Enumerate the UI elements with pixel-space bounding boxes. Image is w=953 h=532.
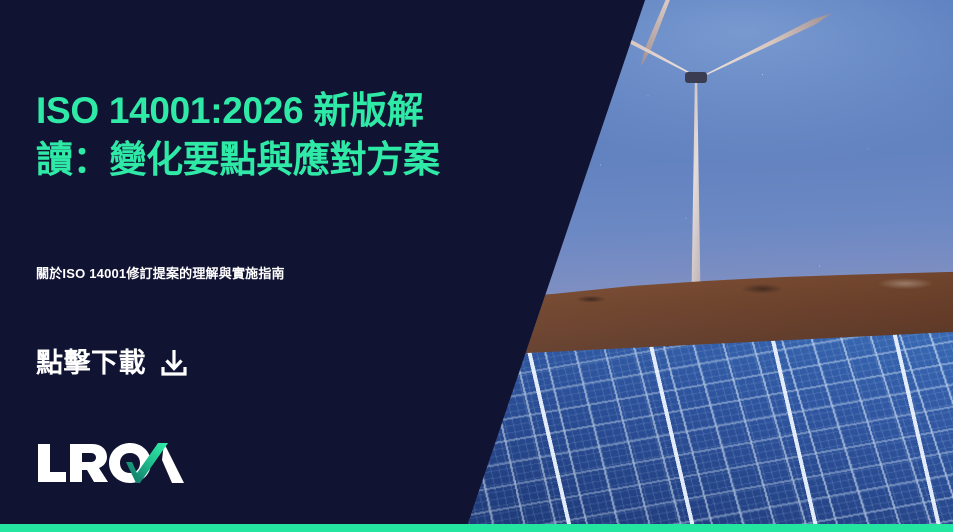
download-button[interactable]: 點擊下載 [36, 348, 189, 378]
logo-letter-l [38, 444, 66, 482]
lrqa-logo [36, 440, 186, 486]
download-icon [159, 348, 189, 378]
page-title: ISO 14001:2026 新版解讀：變化要點與應對方案 [36, 86, 486, 184]
accent-bar [0, 524, 953, 532]
logo-letter-r [70, 444, 108, 482]
content-area: ISO 14001:2026 新版解讀：變化要點與應對方案 關於ISO 1400… [36, 0, 506, 532]
page-subtitle: 關於ISO 14001修訂提案的理解與實施指南 [36, 264, 466, 284]
promo-banner: ISO 14001:2026 新版解讀：變化要點與應對方案 關於ISO 1400… [0, 0, 953, 532]
turbine-nacelle [685, 72, 707, 83]
logo-letter-a [162, 443, 184, 483]
download-button-label: 點擊下載 [36, 350, 146, 377]
